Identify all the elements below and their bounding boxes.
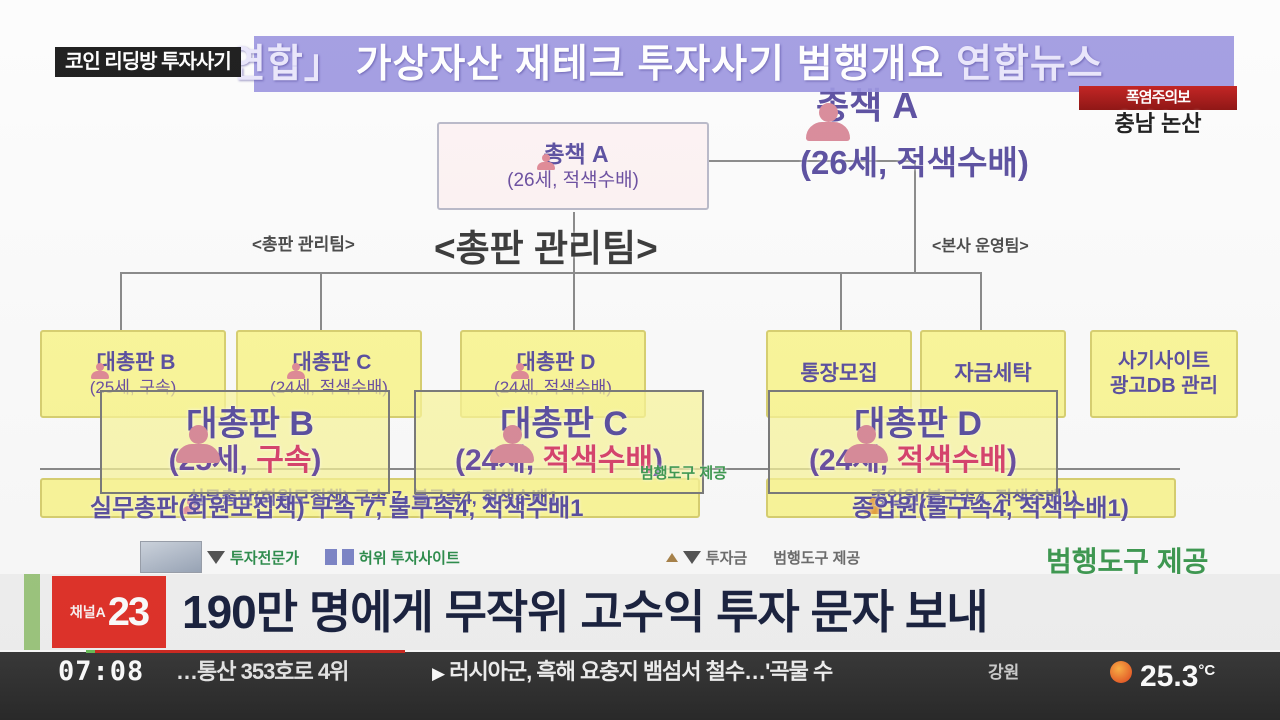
node-boss-sub: (26세, 적색수배) — [507, 169, 639, 193]
node-dae-c-sub: (24세, 적색수배) — [270, 377, 388, 398]
connector-d-down — [573, 272, 575, 330]
legend-tools-label: 범행도구 제공 — [773, 547, 860, 568]
broadcast-title-prefix: 연합」 — [230, 43, 344, 86]
connector-bottom-rail — [40, 468, 1180, 470]
clock: 07:08 — [58, 656, 170, 688]
team-label-sales-small: <총판 관리팀> — [252, 230, 355, 255]
weather-unit: °C — [1198, 662, 1215, 679]
node-boss[interactable]: 총책 A (26세, 적색수배) — [437, 122, 709, 210]
node-boss-title: 총책 A — [537, 140, 608, 169]
node-dae-c[interactable]: 대총판 C (24세, 적색수배) — [236, 330, 422, 418]
legend-funds-label: 투자금 — [706, 547, 747, 568]
row-employee[interactable]: 종업원(불구속4, 적색수배1) — [766, 478, 1176, 518]
weather-region: 강원 — [988, 662, 1019, 684]
broadcast-title-suffix: 연합뉴스 — [956, 43, 1104, 86]
node-bankbook[interactable]: 통장모집 — [766, 330, 912, 418]
node-dae-d[interactable]: 대총판 D (24세, 적색수배) — [460, 330, 646, 418]
weather-temperature-value: 25.3 — [1140, 660, 1198, 693]
triangle-icon — [683, 551, 701, 564]
lower-third-green-bar — [24, 574, 40, 650]
ticker-item-2: ▶ 러시아군, 흑해 요충지 뱀섬서 철수…'곡물 수 — [432, 658, 832, 688]
ticker-item-1: …통산 353호로 4위 — [176, 658, 348, 686]
connector-hq2-down — [980, 272, 982, 330]
node-dae-b[interactable]: 대총판 B (25세, 구속) — [40, 330, 226, 418]
node-adsite[interactable]: 사기사이트 광고DB 관리 — [1090, 330, 1238, 418]
chart-legend: 투자전문가 허위 투자사이트 투자금 범행도구 제공 — [140, 540, 1260, 574]
legend-item-funds: 투자금 — [666, 547, 747, 568]
node-dae-b-sub: (25세, 구속) — [90, 377, 177, 398]
node-laundry-title: 자금세탁 — [954, 361, 1031, 387]
connector-boss-right — [706, 160, 916, 162]
broadcast-title-main: 가상자산 재테크 투자사기 범행개요 — [356, 43, 945, 86]
headline: 190만 명에게 무작위 고수익 투자 문자 보내 — [182, 578, 1242, 646]
channel-logo-number: 23 — [108, 592, 149, 632]
site-icon — [325, 549, 337, 565]
broadcast-screen: 총책 A (26세, 적색수배) <총판 관리팀> <본사 운영팀> 대총판 B… — [0, 0, 1280, 720]
ticker-red-line — [95, 650, 405, 653]
weather-alert-badge: 폭염주의보 — [1079, 86, 1237, 110]
legend-site-label: 허위 투자사이트 — [359, 547, 460, 568]
connector-hq-down — [840, 272, 842, 330]
channel-logo: 채널A 23 — [52, 576, 166, 648]
connector-main-horizontal — [120, 272, 980, 274]
weather-alert-place: 충남 논산 — [1079, 110, 1237, 138]
node-laundry[interactable]: 자금세탁 — [920, 330, 1066, 418]
row-practical-text: 실무총판(회원모집책) 구속 7, 불구속4, 적색수배1 — [188, 487, 558, 510]
team-label-hq: <본사 운영팀> — [932, 232, 1029, 256]
node-adsite-title: 사기사이트 — [1118, 349, 1210, 374]
connector-b-down — [120, 272, 122, 330]
legend-item-tools: 범행도구 제공 — [773, 547, 860, 568]
weather-temperature: 25.3°C — [1140, 654, 1215, 694]
legend-item-site: 허위 투자사이트 — [325, 547, 460, 568]
row-practical[interactable]: 실무총판(회원모집책) 구속 7, 불구속4, 적색수배1 — [40, 478, 700, 518]
sun-icon — [1110, 661, 1132, 683]
site-icon — [342, 549, 354, 565]
triangle-icon — [207, 551, 225, 564]
funds-icon — [666, 553, 678, 562]
connector-c-down — [320, 272, 322, 330]
row-employee-text: 종업원(불구속4, 적색수배1) — [870, 487, 1078, 510]
photo-icon — [140, 541, 202, 573]
topic-chip: 코인 리딩방 투자사기 — [55, 47, 241, 77]
ticker-item-2-text: 러시아군, 흑해 요충지 뱀섬서 철수…'곡물 수 — [449, 659, 832, 684]
legend-expert-label: 투자전문가 — [230, 547, 299, 568]
connector-right-down — [914, 160, 916, 272]
legend-item-expert: 투자전문가 — [140, 541, 299, 573]
node-adsite-sub: 광고DB 관리 — [1110, 374, 1218, 399]
node-bankbook-title: 통장모집 — [800, 361, 877, 387]
channel-logo-name: 채널A — [70, 605, 106, 619]
node-dae-d-sub: (24세, 적색수배) — [494, 377, 612, 398]
caret-icon: ▶ — [432, 664, 444, 683]
